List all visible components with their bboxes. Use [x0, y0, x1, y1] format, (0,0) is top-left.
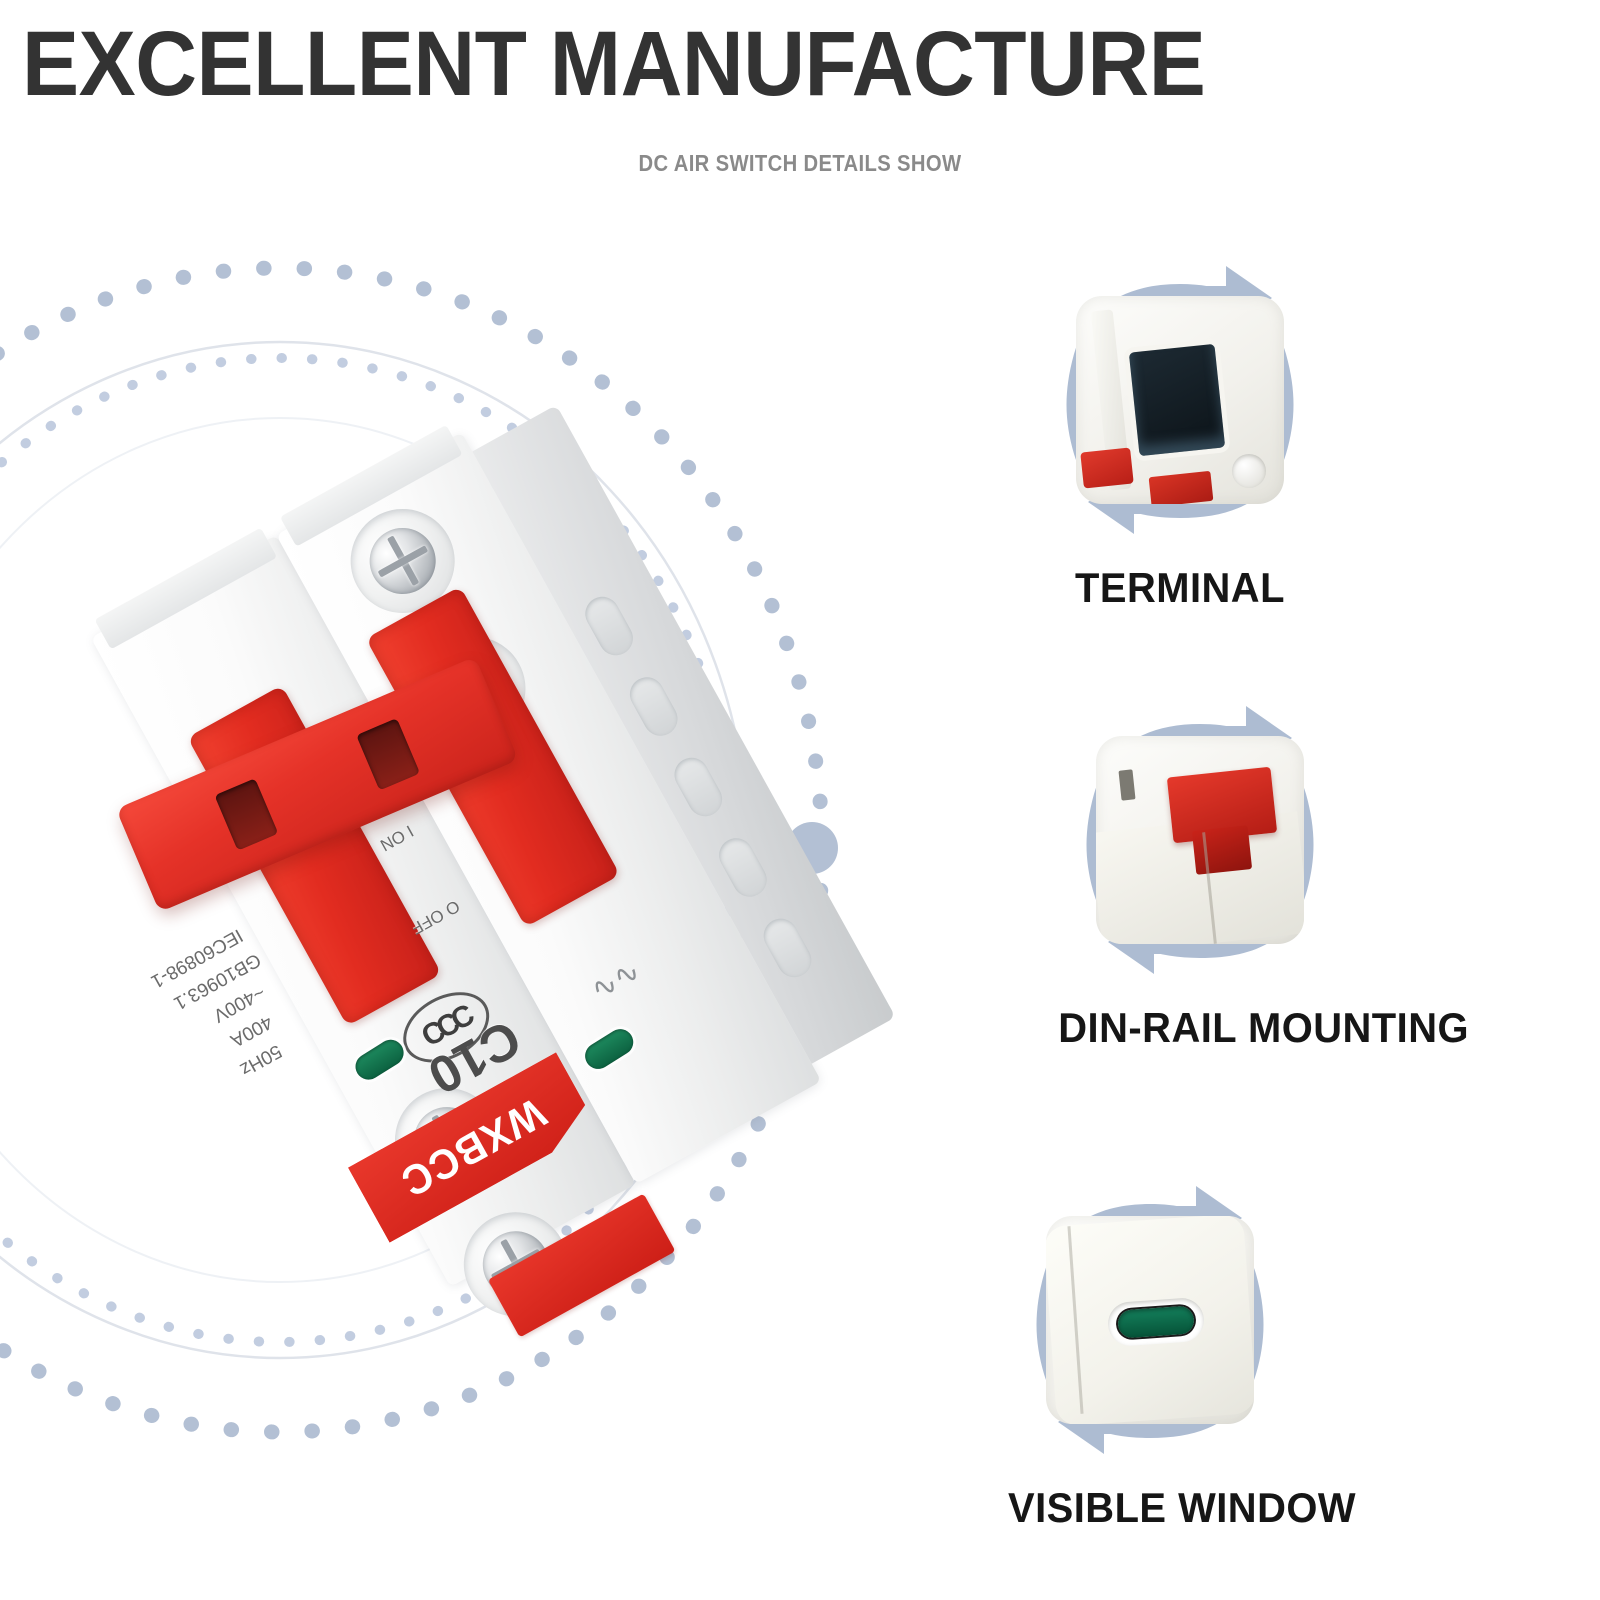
window-green-indicator	[1117, 1305, 1195, 1338]
din-rail-clip-tab	[1192, 825, 1252, 875]
screw-head	[358, 516, 448, 606]
feature-label-terminal: TERMINAL	[933, 564, 1427, 612]
feature-din-rail-mounting: DIN-RAIL MOUNTING	[860, 690, 1380, 1052]
terminal-red-part	[1080, 447, 1133, 488]
page-subtitle: DC AIR SWITCH DETAILS SHOW	[96, 150, 1504, 177]
window-recess	[1107, 1297, 1206, 1348]
feature-visible-window: VISIBLE WINDOW	[800, 1170, 1320, 1532]
terminal-mounting-hole	[1232, 454, 1266, 488]
product-photo-circuit-breaker: IEC60898-1 GB10963.1 ~400V 400A 50Hz I O…	[30, 330, 900, 1450]
page-title: EXCELLENT MANUFACTURE	[22, 16, 1205, 113]
feature-terminal: TERMINAL	[920, 250, 1440, 612]
terminal-red-part	[1149, 471, 1214, 504]
feature-label-din-rail-mounting: DIN-RAIL MOUNTING	[1058, 1004, 1372, 1052]
cyclic-arrows-frame-icon	[1050, 690, 1350, 990]
cyclic-arrows-frame-icon	[1000, 1170, 1300, 1470]
terminal-opening	[1129, 344, 1225, 456]
feature-label-visible-window: VISIBLE WINDOW	[1008, 1484, 1312, 1532]
din-rail-detail-photo	[1096, 736, 1304, 944]
terminal-detail-photo	[1076, 296, 1284, 504]
visible-window-detail-photo	[1046, 1216, 1254, 1424]
din-rail-notch	[1118, 769, 1135, 800]
tie-bar-hole	[214, 778, 278, 850]
tie-bar-hole	[356, 718, 420, 790]
page-header: EXCELLENT MANUFACTURE DC AIR SWITCH DETA…	[0, 0, 1600, 210]
cyclic-arrows-frame-icon	[1030, 250, 1330, 550]
